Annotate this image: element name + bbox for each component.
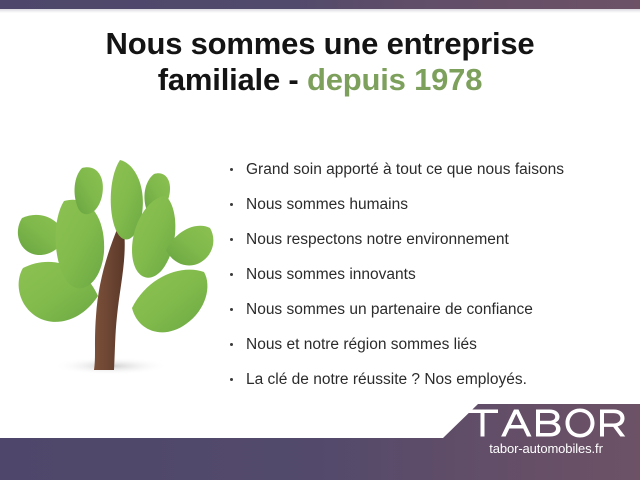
list-item: La clé de notre réussite ? Nos employés. [228, 362, 628, 397]
leaf-top-left [75, 167, 103, 214]
top-accent-strip-shadow [0, 9, 640, 13]
list-item: Nous respectons notre environnement [228, 222, 628, 257]
heading-line-1: Nous sommes une entreprise [0, 26, 640, 62]
list-item: Nous sommes humains [228, 187, 628, 222]
list-item: Nous et notre région sommes liés [228, 327, 628, 362]
bullet-dot-icon [230, 168, 233, 171]
list-item: Nous sommes un partenaire de confiance [228, 292, 628, 327]
leaf-right-lower [132, 270, 207, 333]
list-item-label: Nous sommes humains [246, 196, 408, 213]
bullet-dot-icon [230, 378, 233, 381]
heading-line-2-prefix: familiale - [158, 62, 307, 97]
brand-tagline: tabor-automobiles.fr [464, 441, 628, 456]
list-item-label: Nous sommes un partenaire de confiance [246, 301, 533, 318]
benefits-list: Grand soin apporté à tout ce que nous fa… [228, 152, 628, 397]
footer-bar: tabor-automobiles.fr [0, 400, 640, 480]
heading-accent-text: depuis 1978 [307, 62, 482, 97]
bullet-dot-icon [230, 273, 233, 276]
list-item-label: Nous sommes innovants [246, 266, 416, 283]
tabor-wordmark-icon [466, 408, 626, 438]
tree-illustration [14, 152, 218, 386]
list-item: Grand soin apporté à tout ce que nous fa… [228, 152, 628, 187]
list-item-label: Grand soin apporté à tout ce que nous fa… [246, 161, 564, 178]
heading-line-2: familiale - depuis 1978 [0, 62, 640, 98]
slide-heading: Nous sommes une entreprise familiale - d… [0, 26, 640, 99]
slide-canvas: Nous sommes une entreprise familiale - d… [0, 0, 640, 480]
list-item: Nous sommes innovants [228, 257, 628, 292]
top-accent-strip [0, 0, 640, 9]
brand-logo[interactable]: tabor-automobiles.fr [464, 408, 628, 456]
list-item-label: Nous et notre région sommes liés [246, 336, 477, 353]
bullet-dot-icon [230, 238, 233, 241]
bullet-dot-icon [230, 308, 233, 311]
bullet-dot-icon [230, 343, 233, 346]
bullet-dot-icon [230, 203, 233, 206]
list-item-label: La clé de notre réussite ? Nos employés. [246, 371, 527, 388]
list-item-label: Nous respectons notre environnement [246, 231, 509, 248]
